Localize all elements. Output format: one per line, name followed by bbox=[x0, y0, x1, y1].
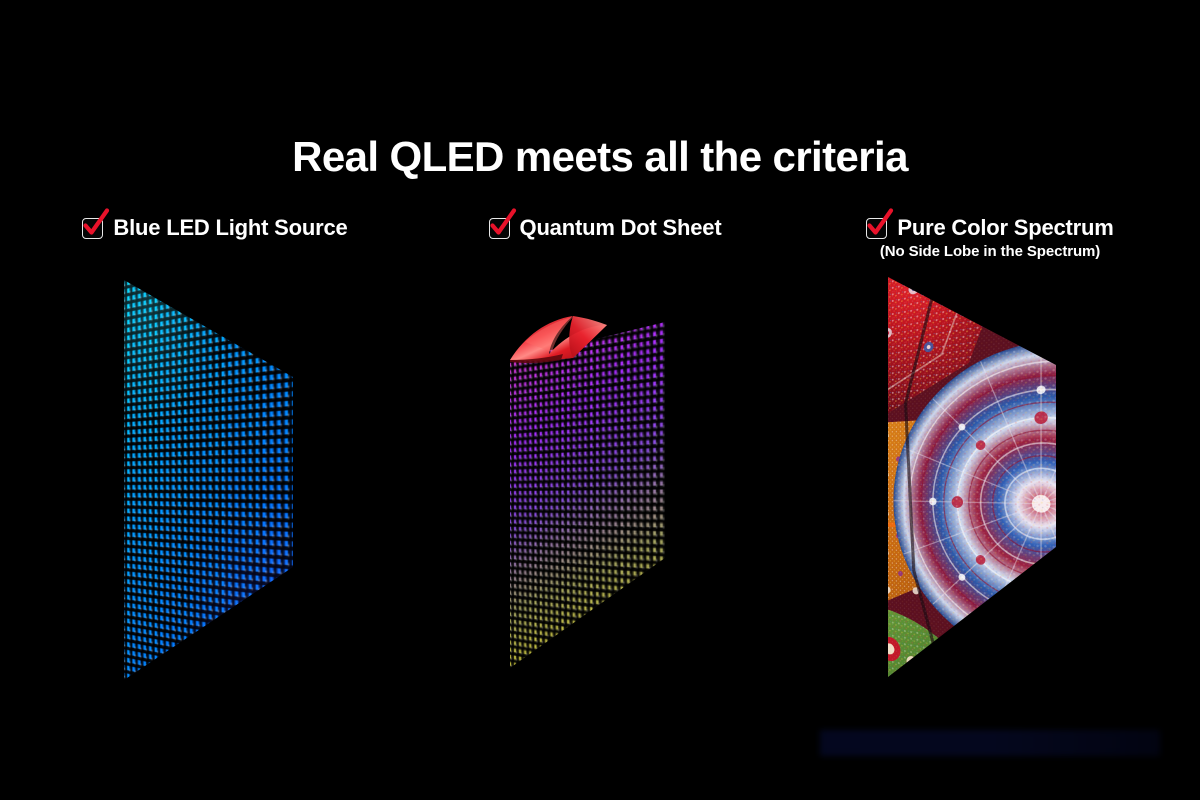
blue-led-dot-grid bbox=[110, 265, 320, 685]
criterion-quantum-dot-sheet: Quantum Dot Sheet bbox=[390, 215, 820, 241]
criterion-sublabel: (No Side Lobe in the Spectrum) bbox=[880, 243, 1100, 260]
criterion-label: Quantum Dot Sheet bbox=[520, 215, 722, 241]
criterion-heading-row: Pure Color Spectrum bbox=[866, 215, 1113, 241]
quantum-dot-panel bbox=[495, 300, 695, 690]
carpet-screen-image bbox=[880, 265, 1070, 690]
qled-criteria-graphic: Real QLED meets all the criteria Blue LE… bbox=[0, 0, 1200, 800]
quantum-dot-grid bbox=[495, 300, 695, 690]
criterion-pure-color-spectrum: Pure Color Spectrum (No Side Lobe in the… bbox=[775, 215, 1200, 260]
blue-led-panel bbox=[110, 265, 320, 685]
criterion-heading-row: Blue LED Light Source bbox=[82, 215, 347, 241]
quantum-dot-matrix bbox=[495, 300, 695, 690]
checked-checkbox-icon bbox=[82, 218, 103, 239]
compression-artifact bbox=[820, 730, 1160, 756]
criterion-label: Blue LED Light Source bbox=[113, 215, 347, 241]
color-carpet-panel bbox=[880, 265, 1070, 690]
criterion-heading-row: Quantum Dot Sheet bbox=[489, 215, 722, 241]
checked-checkbox-icon bbox=[866, 218, 887, 239]
checked-checkbox-icon bbox=[489, 218, 510, 239]
led-dot-matrix bbox=[110, 265, 320, 685]
criterion-blue-led-light-source: Blue LED Light Source bbox=[0, 215, 430, 241]
carpet-artwork bbox=[880, 265, 1070, 690]
criterion-label: Pure Color Spectrum bbox=[897, 215, 1113, 241]
page-title: Real QLED meets all the criteria bbox=[0, 131, 1200, 183]
